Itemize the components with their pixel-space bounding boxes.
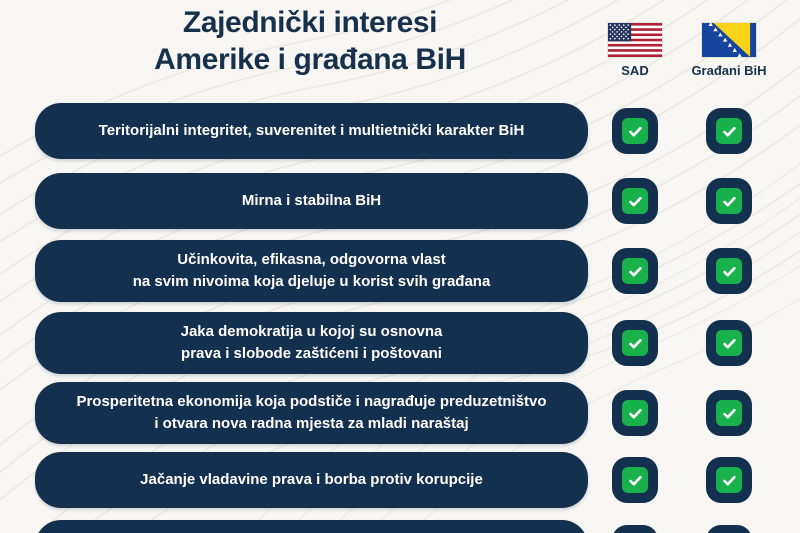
check-icon	[622, 118, 648, 144]
column-header-bih: Građani BiH	[682, 22, 776, 79]
check-icon	[716, 118, 742, 144]
header: Zajednički interesi Amerike i građana Bi…	[0, 0, 800, 96]
check-icon	[622, 400, 648, 426]
interest-text: Prosperitetna ekonomija koja podstiče i …	[76, 391, 546, 435]
check-cell-sad[interactable]	[612, 108, 658, 154]
interest-line-1: Prosperitetna ekonomija koja podstiče i …	[76, 393, 546, 410]
interest-line-1: Teritorijalni integritet, suverenitet i …	[99, 122, 525, 139]
check-icon	[716, 330, 742, 356]
interest-pill[interactable]: Učinkovita, efikasna, odgovorna vlast na…	[35, 240, 588, 302]
check-icon	[622, 330, 648, 356]
check-cell-sad[interactable]	[612, 178, 658, 224]
interest-text: Učinkovita, efikasna, odgovorna vlast na…	[133, 249, 491, 293]
interest-pill[interactable]: Teritorijalni integritet, suverenitet i …	[35, 103, 588, 159]
column-label-bih: Građani BiH	[682, 63, 776, 79]
page-title: Zajednički interesi Amerike i građana Bi…	[60, 4, 560, 78]
interest-pill[interactable]	[35, 520, 588, 533]
check-icon	[622, 258, 648, 284]
check-cell-bih[interactable]	[706, 178, 752, 224]
check-cell-bih[interactable]	[706, 390, 752, 436]
check-cell-sad[interactable]	[612, 525, 658, 533]
check-cell-bih[interactable]	[706, 108, 752, 154]
infographic-root: Zajednički interesi Amerike i građana Bi…	[0, 0, 800, 533]
interest-text: Jaka demokratija u kojoj su osnovna prav…	[181, 321, 443, 365]
check-icon	[622, 467, 648, 493]
check-cell-sad[interactable]	[612, 320, 658, 366]
interest-line-1: Jaka demokratija u kojoj su osnovna	[181, 323, 443, 340]
interest-line-1: Mirna i stabilna BiH	[242, 192, 381, 209]
check-cell-sad[interactable]	[612, 390, 658, 436]
check-cell-sad[interactable]	[612, 248, 658, 294]
bih-flag-icon	[701, 22, 757, 58]
interest-pill[interactable]: Jačanje vladavine prava i borba protiv k…	[35, 452, 588, 508]
interest-pill[interactable]: Mirna i stabilna BiH	[35, 173, 588, 229]
column-label-sad: SAD	[588, 63, 682, 79]
interest-pill[interactable]: Jaka demokratija u kojoj su osnovna prav…	[35, 312, 588, 374]
check-cell-sad[interactable]	[612, 457, 658, 503]
interest-line-1: Učinkovita, efikasna, odgovorna vlast	[177, 251, 445, 268]
title-line-2: Amerike i građana BiH	[60, 41, 560, 78]
interest-text: Jačanje vladavine prava i borba protiv k…	[140, 469, 483, 491]
check-cell-bih[interactable]	[706, 525, 752, 533]
check-icon	[716, 467, 742, 493]
interest-text: Mirna i stabilna BiH	[242, 190, 381, 212]
interest-text: Teritorijalni integritet, suverenitet i …	[99, 120, 525, 142]
check-cell-bih[interactable]	[706, 248, 752, 294]
check-icon	[716, 400, 742, 426]
us-flag-icon	[607, 22, 663, 58]
interest-pill[interactable]: Prosperitetna ekonomija koja podstiče i …	[35, 382, 588, 444]
check-icon	[716, 258, 742, 284]
interest-line-2: i otvara nova radna mjesta za mladi nara…	[76, 413, 546, 435]
column-header-sad: SAD	[588, 22, 682, 79]
check-cell-bih[interactable]	[706, 457, 752, 503]
check-icon	[716, 188, 742, 214]
check-icon	[622, 188, 648, 214]
title-line-1: Zajednički interesi	[60, 4, 560, 41]
interest-line-2: na svim nivoima koja djeluje u korist sv…	[133, 271, 491, 293]
check-cell-bih[interactable]	[706, 320, 752, 366]
interest-line-2: prava i slobode zaštićeni i poštovani	[181, 343, 443, 365]
interest-line-1: Jačanje vladavine prava i borba protiv k…	[140, 471, 483, 488]
